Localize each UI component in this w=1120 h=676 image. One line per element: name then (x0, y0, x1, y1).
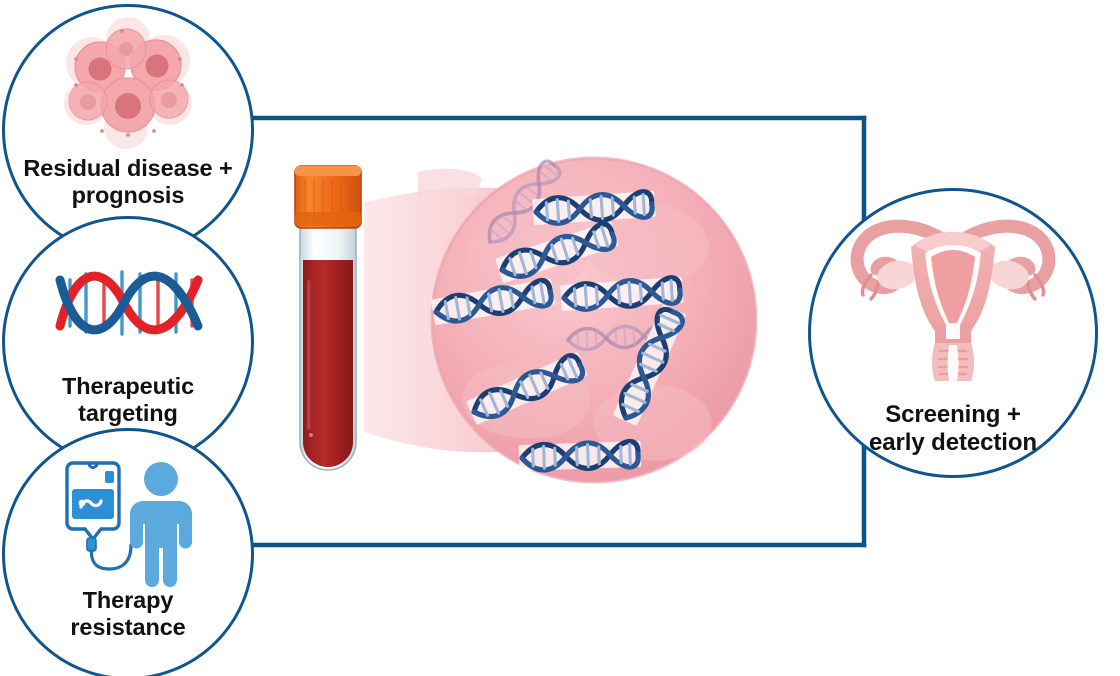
magnified-plasma-circle (431, 158, 756, 482)
node-screening-label: Screening + early detection (869, 401, 1037, 457)
node-resistance-label: Therapy resistance (70, 587, 185, 642)
node-residual-label: Residual disease + prognosis (23, 155, 232, 210)
diagram-canvas: Residual disease + prognosis Therapeut (0, 0, 1120, 676)
node-therapeutic-label: Therapeutic targeting (62, 373, 194, 428)
iv-drip-patient-icon (5, 459, 251, 583)
ctdna-fragment (519, 441, 642, 471)
dna-double-helix-icon (5, 255, 251, 351)
liquid-biopsy-illustration (268, 150, 768, 490)
blood-collection-tube (295, 166, 361, 470)
node-screening-early-detection[interactable]: Screening + early detection (808, 188, 1098, 478)
node-therapy-resistance[interactable]: Therapy resistance (2, 428, 254, 676)
tumour-cell-cluster-icon (5, 23, 251, 141)
uterus-ovaries-icon (811, 213, 1095, 383)
